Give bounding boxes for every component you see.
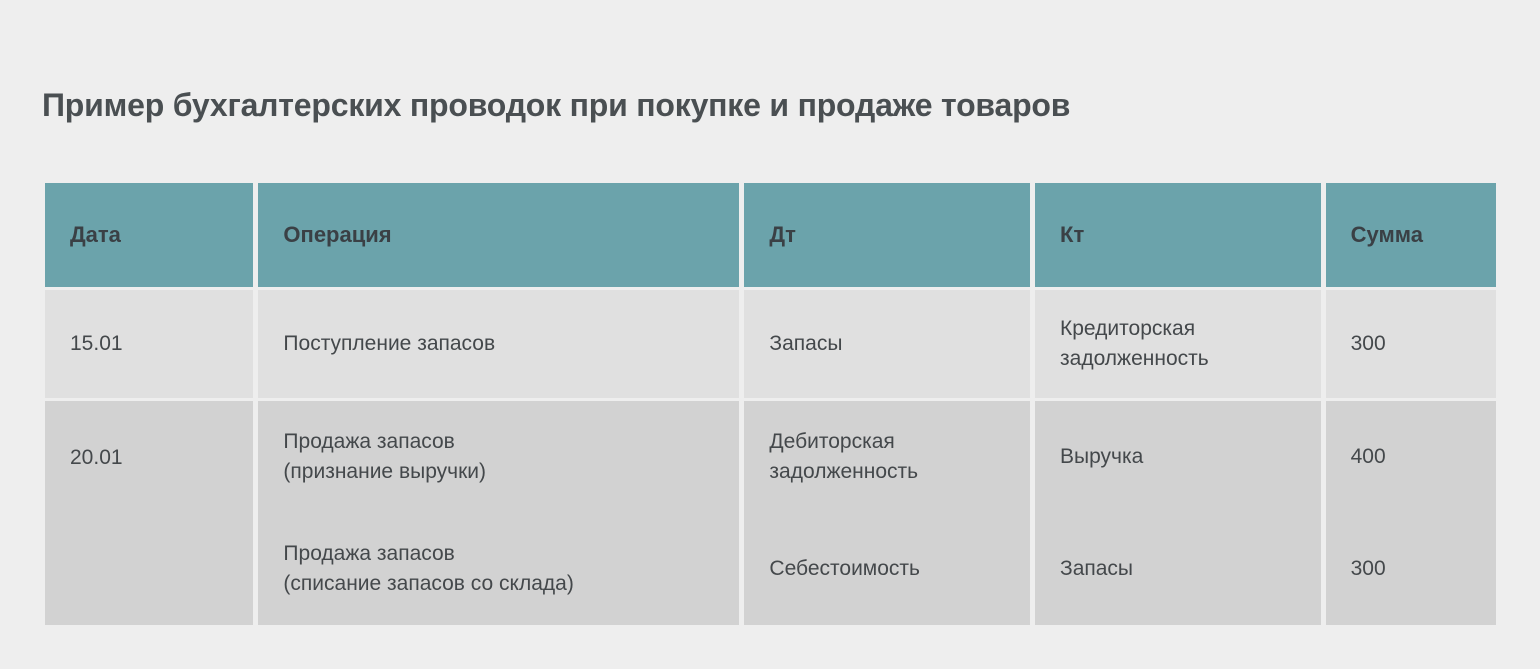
cell-operation: Поступление запасов xyxy=(258,290,739,398)
column-header-debit: Дт xyxy=(744,183,1030,287)
cell-credit-line1: Кредиторская xyxy=(1060,314,1209,344)
accounting-entries-table: Дата Операция Дт Кт Сумма 15.01 Поступле… xyxy=(40,180,1501,628)
column-header-credit: Кт xyxy=(1035,183,1321,287)
cell-amount: 300 xyxy=(1326,290,1496,398)
sub-entry: 400 xyxy=(1351,401,1486,513)
cell-credit: Кредиторская задолженность xyxy=(1035,290,1321,398)
table-row: 20.01 Продажа запасов (признание выручки… xyxy=(45,401,1496,625)
column-header-operation: Операция xyxy=(258,183,739,287)
sub-entry: Выручка xyxy=(1060,401,1311,513)
cell-operation-line1: Поступление запасов xyxy=(283,329,495,359)
cell-credit: Выручка Запасы xyxy=(1035,401,1321,625)
cell-operation-line2: (признание выручки) xyxy=(283,457,486,487)
cell-debit-line1: Дебиторская xyxy=(769,427,918,457)
page-title: Пример бухгалтерских проводок при покупк… xyxy=(42,87,1070,124)
sub-entry: Продажа запасов (признание выручки) xyxy=(283,401,729,513)
cell-operation-line1: Продажа запасов xyxy=(283,539,573,569)
cell-credit-line1: Запасы xyxy=(1060,554,1133,584)
cell-date: 15.01 xyxy=(45,290,253,398)
cell-amount-value: 300 xyxy=(1351,329,1386,359)
cell-debit: Запасы xyxy=(744,290,1030,398)
column-header-date: Дата xyxy=(45,183,253,287)
cell-date-value: 20.01 xyxy=(70,443,123,473)
cell-operation: Продажа запасов (признание выручки) Прод… xyxy=(258,401,739,625)
cell-operation-line2: (списание запасов со склада) xyxy=(283,569,573,599)
page-root: Пример бухгалтерских проводок при покупк… xyxy=(0,0,1540,669)
cell-debit-line2: задолженность xyxy=(769,457,918,487)
table-row: 15.01 Поступление запасов Запасы Кредито… xyxy=(45,290,1496,398)
cell-amount: 400 300 xyxy=(1326,401,1496,625)
cell-operation-line1: Продажа запасов xyxy=(283,427,486,457)
sub-entry: Дебиторская задолженность xyxy=(769,401,1020,513)
cell-amount-value: 300 xyxy=(1351,554,1386,584)
cell-debit-line1: Запасы xyxy=(769,329,842,359)
cell-credit-line2: задолженность xyxy=(1060,344,1209,374)
cell-credit-line1: Выручка xyxy=(1060,442,1143,472)
cell-debit: Дебиторская задолженность Себестоимость xyxy=(744,401,1030,625)
cell-date-value: 15.01 xyxy=(70,329,123,359)
sub-entry: 300 xyxy=(1351,513,1486,625)
sub-entry: Запасы xyxy=(1060,513,1311,625)
sub-entry: Себестоимость xyxy=(769,513,1020,625)
sub-entry: Продажа запасов (списание запасов со скл… xyxy=(283,513,729,625)
table-body: 15.01 Поступление запасов Запасы Кредито… xyxy=(45,290,1496,625)
column-header-amount: Сумма xyxy=(1326,183,1496,287)
table-header-row: Дата Операция Дт Кт Сумма xyxy=(45,183,1496,287)
table-header: Дата Операция Дт Кт Сумма xyxy=(45,183,1496,287)
cell-debit-line1: Себестоимость xyxy=(769,554,920,584)
cell-date: 20.01 xyxy=(45,401,253,625)
cell-amount-value: 400 xyxy=(1351,442,1386,472)
